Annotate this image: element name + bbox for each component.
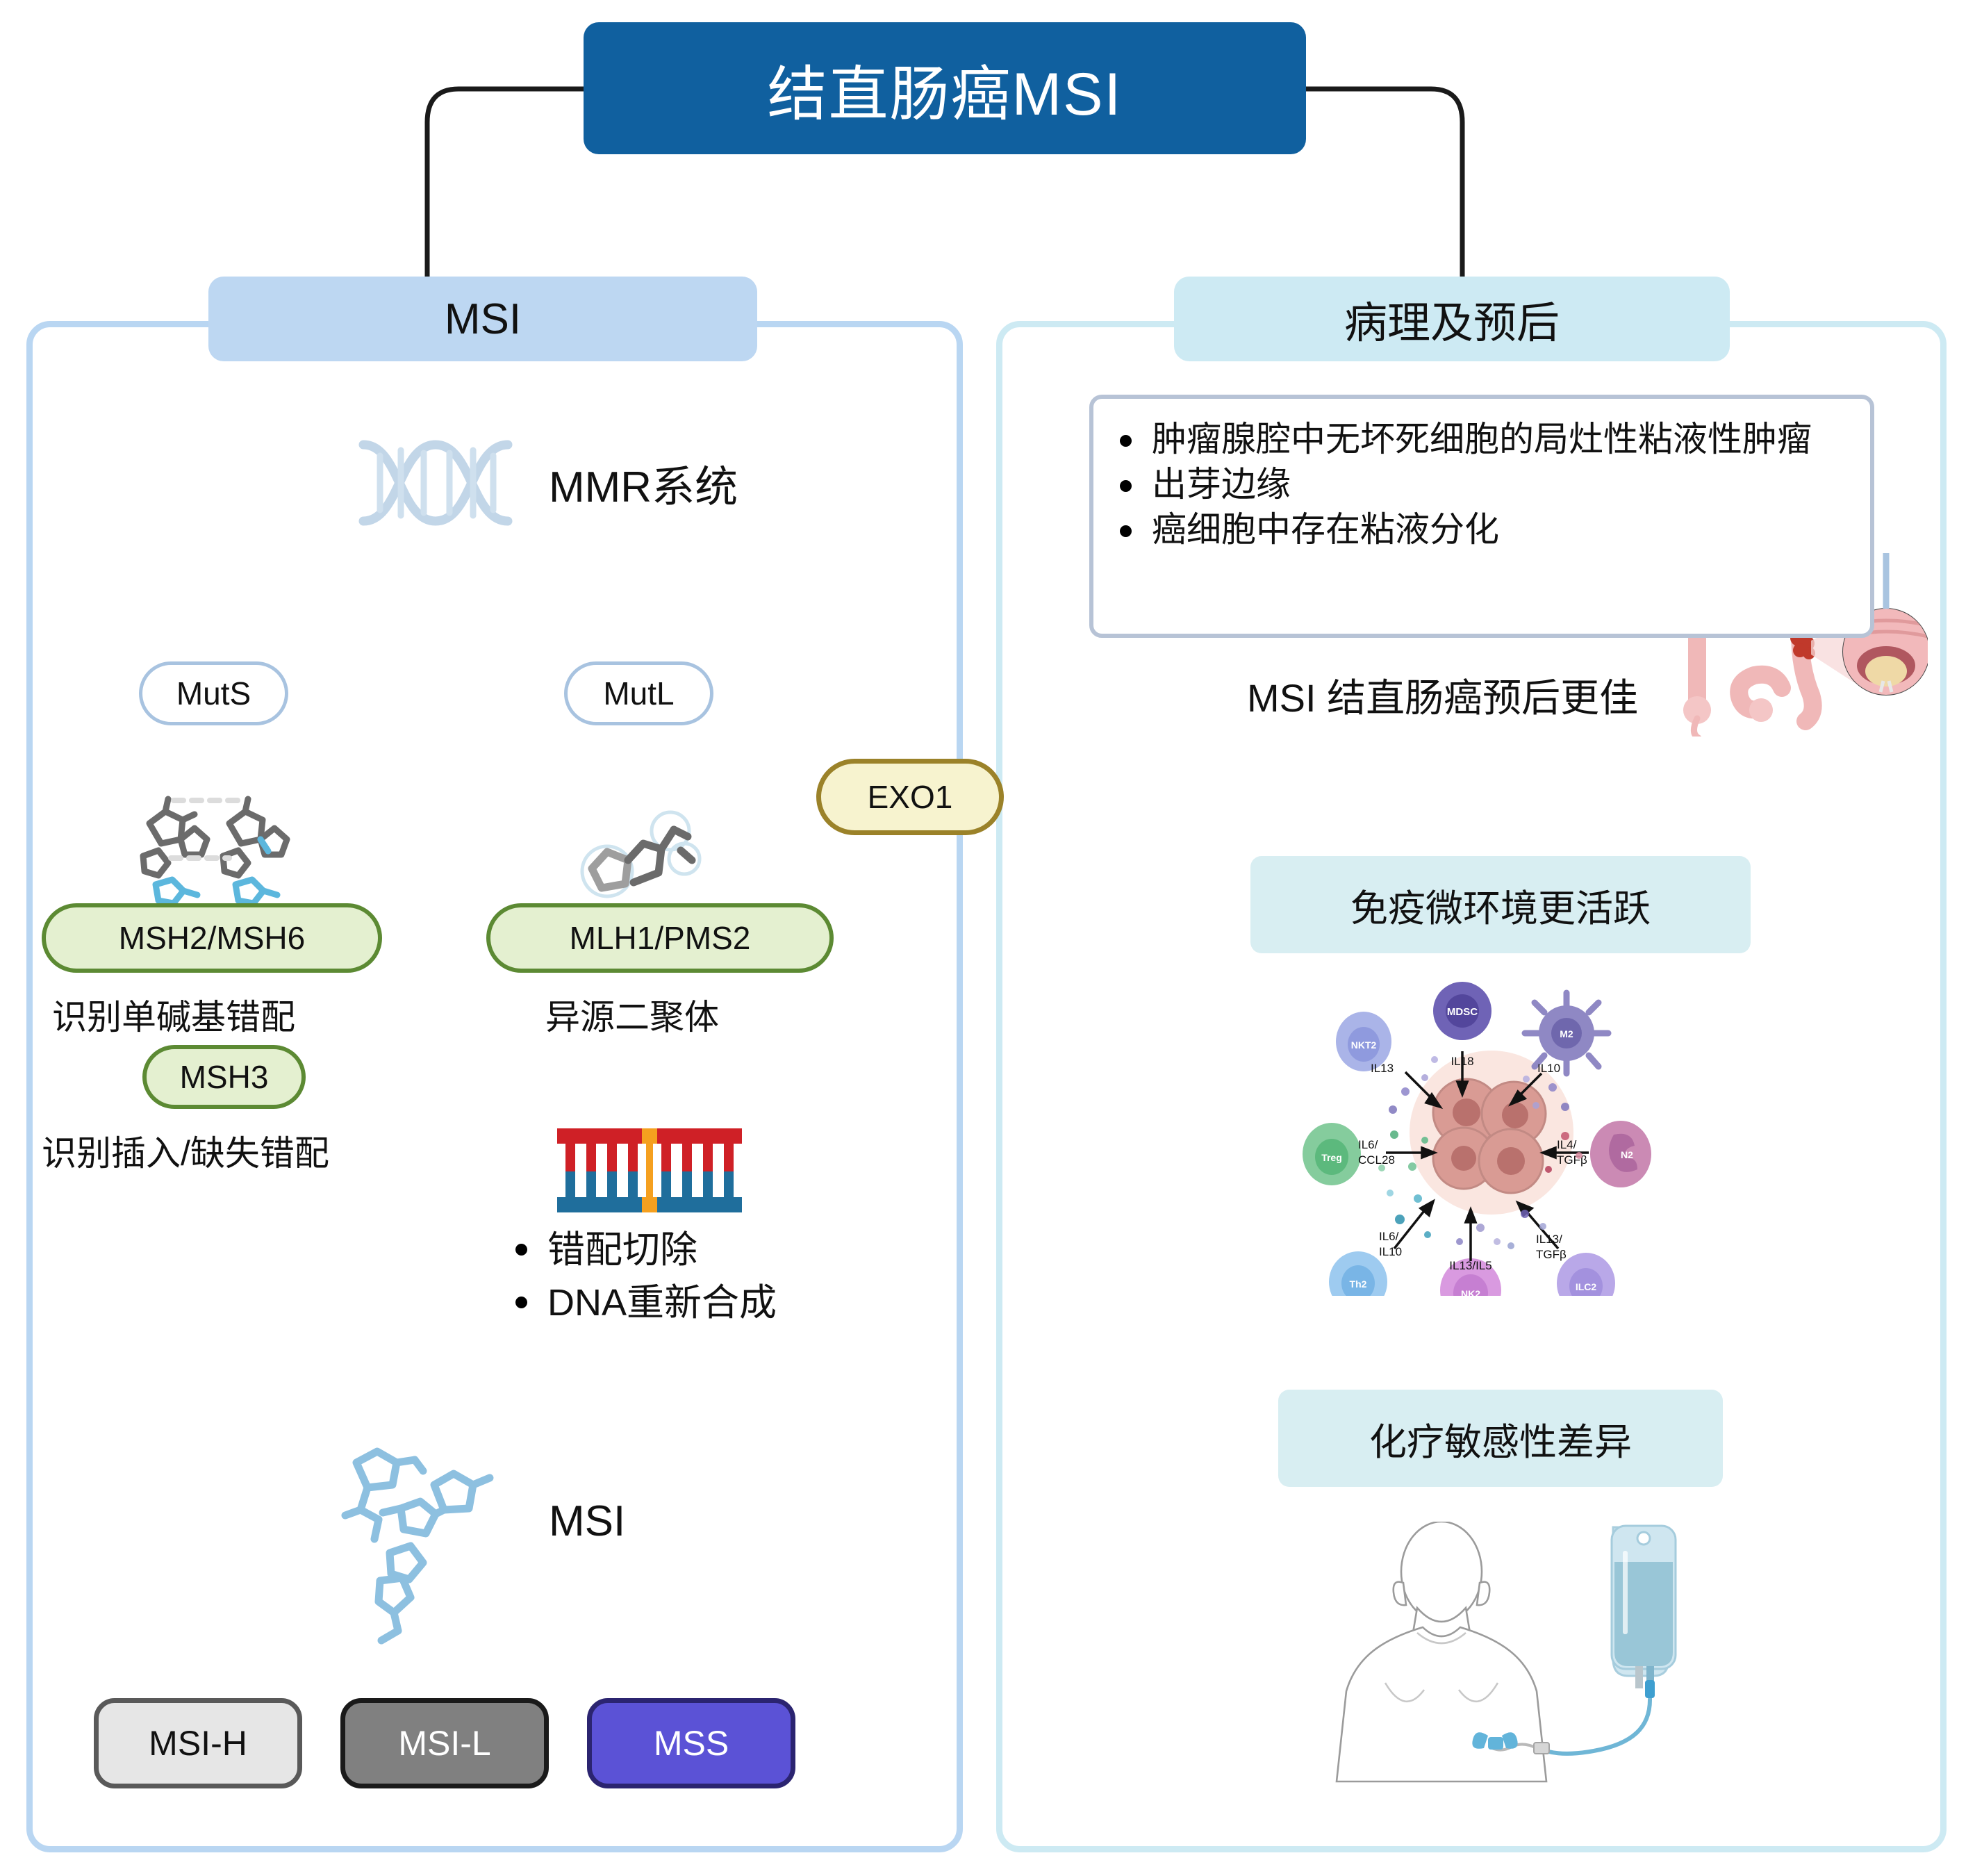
svg-text:IL13/: IL13/ bbox=[1536, 1233, 1562, 1246]
msi-molecule-icon bbox=[337, 1442, 497, 1650]
mutl-pill-label: MutL bbox=[603, 675, 674, 712]
msh2-msh6-pill[interactable]: MSH2/MSH6 bbox=[42, 903, 382, 973]
msi-class-label: MSI-L bbox=[398, 1723, 490, 1763]
svg-text:IL6/: IL6/ bbox=[1358, 1138, 1378, 1151]
exo1-pill[interactable]: EXO1 bbox=[816, 759, 1004, 835]
chemo-sensitivity-label: 化疗敏感性差异 bbox=[1369, 1411, 1632, 1466]
svg-text:IL13/IL5: IL13/IL5 bbox=[1449, 1259, 1491, 1272]
svg-text:ILC2: ILC2 bbox=[1576, 1281, 1597, 1292]
panel-msi-header: MSI bbox=[208, 277, 757, 361]
msi-class-msi-h[interactable]: MSI-H bbox=[94, 1698, 302, 1788]
prognosis-text: MSI 结直肠癌预后更佳 bbox=[1247, 667, 1638, 723]
page-title: 结直肠癌MSI bbox=[584, 22, 1306, 154]
msh3-pill[interactable]: MSH3 bbox=[142, 1045, 306, 1109]
svg-text:NK2: NK2 bbox=[1461, 1288, 1480, 1296]
patient-iv-infusion-icon bbox=[1313, 1522, 1730, 1793]
mlh1-pms2-label: MLH1/PMS2 bbox=[570, 919, 751, 957]
svg-text:MDSC: MDSC bbox=[1447, 1006, 1478, 1018]
tumor-microenvironment-icon: MDSC M2 NKT2 Treg N2 bbox=[1289, 969, 1699, 1296]
list-item: 错配切除 bbox=[507, 1224, 938, 1277]
msh3-label: MSH3 bbox=[180, 1058, 269, 1096]
base-pair-molecule-icon bbox=[125, 785, 299, 910]
svg-text:IL18: IL18 bbox=[1451, 1055, 1473, 1068]
svg-text:IL10: IL10 bbox=[1379, 1245, 1402, 1258]
svg-text:Treg: Treg bbox=[1321, 1152, 1342, 1163]
svg-text:IL13: IL13 bbox=[1371, 1062, 1394, 1075]
diagram-canvas: 结直肠癌MSI MSI 病理及预后 MMR系统 MutS bbox=[0, 0, 1975, 1876]
svg-text:CCL28: CCL28 bbox=[1358, 1153, 1395, 1167]
msi-class-label: MSI-H bbox=[149, 1723, 247, 1763]
msi-class-label: MSS bbox=[654, 1723, 729, 1763]
svg-text:IL10: IL10 bbox=[1537, 1062, 1560, 1075]
svg-text:IL4/: IL4/ bbox=[1557, 1138, 1577, 1151]
page-title-text: 结直肠癌MSI bbox=[768, 45, 1123, 132]
msh2-msh6-label: MSH2/MSH6 bbox=[119, 919, 305, 957]
svg-text:NKT2: NKT2 bbox=[1351, 1039, 1377, 1051]
svg-text:N2: N2 bbox=[1621, 1149, 1633, 1160]
panel-msi-header-label: MSI bbox=[445, 295, 521, 344]
svg-text:Th2: Th2 bbox=[1350, 1278, 1367, 1290]
muts-pill-label: MutS bbox=[176, 675, 251, 712]
svg-text:IL6/: IL6/ bbox=[1379, 1230, 1399, 1243]
chemo-sensitivity-box: 化疗敏感性差异 bbox=[1278, 1390, 1723, 1487]
list-item: 肿瘤腺腔中无坏死细胞的局灶性粘液性肿瘤 bbox=[1112, 417, 1849, 462]
muts-pill[interactable]: MutS bbox=[139, 661, 288, 725]
msi-class-msi-l[interactable]: MSI-L bbox=[340, 1698, 549, 1788]
mmr-system-label: MMR系统 bbox=[549, 452, 738, 514]
exo1-label: EXO1 bbox=[868, 778, 953, 816]
panel-pathology-header: 病理及预后 bbox=[1174, 277, 1730, 361]
list-item: 出芽边缘 bbox=[1112, 462, 1849, 507]
mutl-pill[interactable]: MutL bbox=[564, 661, 713, 725]
list-item: DNA重新合成 bbox=[507, 1277, 938, 1330]
pathology-features-list: 肿瘤腺腔中无坏死细胞的局灶性粘液性肿瘤 出芽边缘 癌细胞中存在粘液分化 bbox=[1093, 399, 1870, 552]
pathology-features-box: 肿瘤腺腔中无坏死细胞的局灶性粘液性肿瘤 出芽边缘 癌细胞中存在粘液分化 bbox=[1089, 395, 1874, 638]
msh2-msh6-caption: 识别单碱基错配 bbox=[52, 989, 295, 1039]
repair-steps-list: 错配切除 DNA重新合成 bbox=[507, 1224, 938, 1329]
mlh1-pms2-caption: 异源二聚体 bbox=[545, 989, 719, 1039]
msh3-caption: 识别插入/缺失错配 bbox=[42, 1126, 329, 1176]
single-molecule-icon bbox=[577, 806, 716, 910]
immune-microenvironment-box: 免疫微环境更活跃 bbox=[1250, 856, 1751, 953]
dna-helix-icon bbox=[351, 438, 524, 528]
panel-pathology-header-label: 病理及预后 bbox=[1344, 288, 1560, 350]
immune-microenvironment-label: 免疫微环境更活跃 bbox=[1350, 878, 1651, 932]
msi-class-mss[interactable]: MSS bbox=[587, 1698, 795, 1788]
dna-mismatch-ladder-icon bbox=[556, 1127, 743, 1214]
svg-text:TGFβ: TGFβ bbox=[1536, 1248, 1567, 1261]
msi-outcome-label: MSI bbox=[549, 1497, 625, 1546]
mlh1-pms2-pill[interactable]: MLH1/PMS2 bbox=[486, 903, 834, 973]
svg-text:TGFβ: TGFβ bbox=[1557, 1153, 1587, 1167]
svg-text:M2: M2 bbox=[1560, 1028, 1573, 1039]
list-item: 癌细胞中存在粘液分化 bbox=[1112, 507, 1849, 552]
